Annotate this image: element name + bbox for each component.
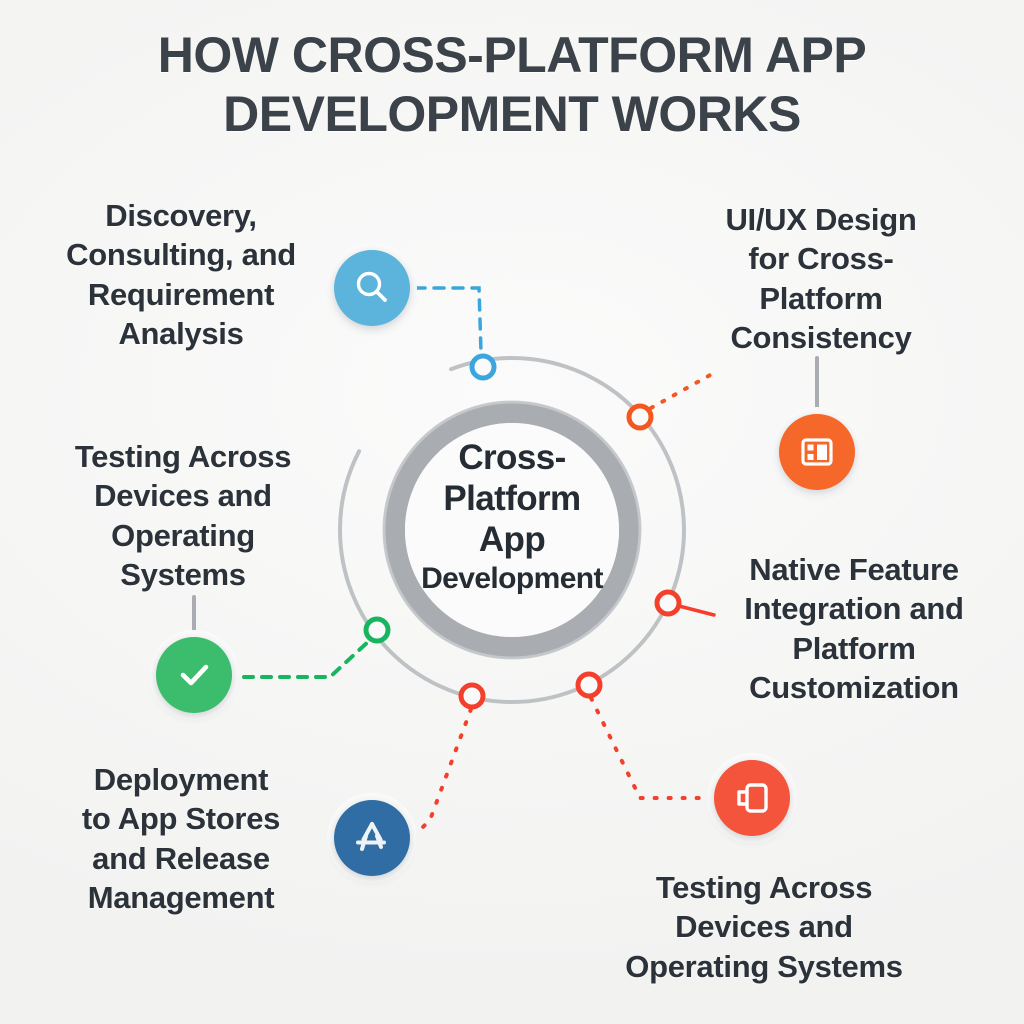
node-icon-discovery[interactable] <box>334 250 410 326</box>
marker-discovery[interactable] <box>472 356 494 378</box>
label-testing-left-line-4: Systems <box>40 555 326 594</box>
connector-testing-bottom <box>591 698 706 798</box>
label-testing-left: Testing Across Devices and Operating Sys… <box>40 437 326 594</box>
label-testing-bottom-line-3: Operating Systems <box>554 947 974 986</box>
hub-line-2: Platform <box>392 479 632 520</box>
label-testing-left-line-3: Operating <box>40 516 326 555</box>
app-store-icon <box>349 815 395 861</box>
label-discovery-line-1: Discovery, <box>36 196 326 235</box>
label-deployment: Deployment to App Stores and Release Man… <box>36 760 326 917</box>
label-testing-bottom-line-2: Devices and <box>554 907 974 946</box>
label-discovery-line-4: Analysis <box>36 314 326 353</box>
marker-testing-left[interactable] <box>366 619 388 641</box>
label-uiux-line-2: for Cross- <box>676 239 966 278</box>
connector-discovery <box>415 288 481 352</box>
label-native-feature-line-2: Integration and <box>700 589 1008 628</box>
marker-testing-bottom[interactable] <box>578 674 600 696</box>
label-testing-left-line-1: Testing Across <box>40 437 326 476</box>
label-deployment-line-4: Management <box>36 878 326 917</box>
node-icon-uiux[interactable] <box>779 414 855 490</box>
hub-line-3: App <box>392 520 632 561</box>
hub-line-1: Cross- <box>392 438 632 479</box>
wireframe-layout-icon <box>795 430 839 474</box>
infographic-canvas: HOW CROSS-PLATFORM APP DEVELOPMENT WORKS <box>0 0 1024 1024</box>
label-uiux-line-1: UI/UX Design <box>676 200 966 239</box>
label-deployment-line-1: Deployment <box>36 760 326 799</box>
device-export-icon <box>730 776 774 820</box>
label-testing-bottom-line-1: Testing Across <box>554 868 974 907</box>
label-deployment-line-3: and Release <box>36 839 326 878</box>
node-icon-testing-left[interactable] <box>156 637 232 713</box>
label-native-feature: Native Feature Integration and Platform … <box>700 550 1008 707</box>
marker-native-feature[interactable] <box>657 592 679 614</box>
search-icon <box>350 266 394 310</box>
label-testing-left-line-2: Devices and <box>40 476 326 515</box>
label-uiux-line-3: Platform <box>676 279 966 318</box>
hub-label: Cross- Platform App Development <box>392 438 632 596</box>
marker-deployment[interactable] <box>461 685 483 707</box>
label-testing-bottom: Testing Across Devices and Operating Sys… <box>554 868 974 986</box>
label-discovery-line-3: Requirement <box>36 275 326 314</box>
label-uiux: UI/UX Design for Cross- Platform Consist… <box>676 200 966 357</box>
marker-uiux[interactable] <box>629 406 651 428</box>
label-native-feature-line-4: Customization <box>700 668 1008 707</box>
label-uiux-line-4: Consistency <box>676 318 966 357</box>
hub-line-4: Development <box>392 561 632 596</box>
connector-testing-left <box>244 640 370 677</box>
label-discovery: Discovery, Consulting, and Requirement A… <box>36 196 326 353</box>
node-icon-deployment[interactable] <box>334 800 410 876</box>
node-icon-testing-bottom[interactable] <box>714 760 790 836</box>
label-deployment-line-2: to App Stores <box>36 799 326 838</box>
check-circle-icon <box>172 653 216 697</box>
connector-uiux <box>651 374 712 408</box>
label-native-feature-line-1: Native Feature <box>700 550 1008 589</box>
label-native-feature-line-3: Platform <box>700 629 1008 668</box>
connector-deployment <box>412 709 471 838</box>
label-discovery-line-2: Consulting, and <box>36 235 326 274</box>
